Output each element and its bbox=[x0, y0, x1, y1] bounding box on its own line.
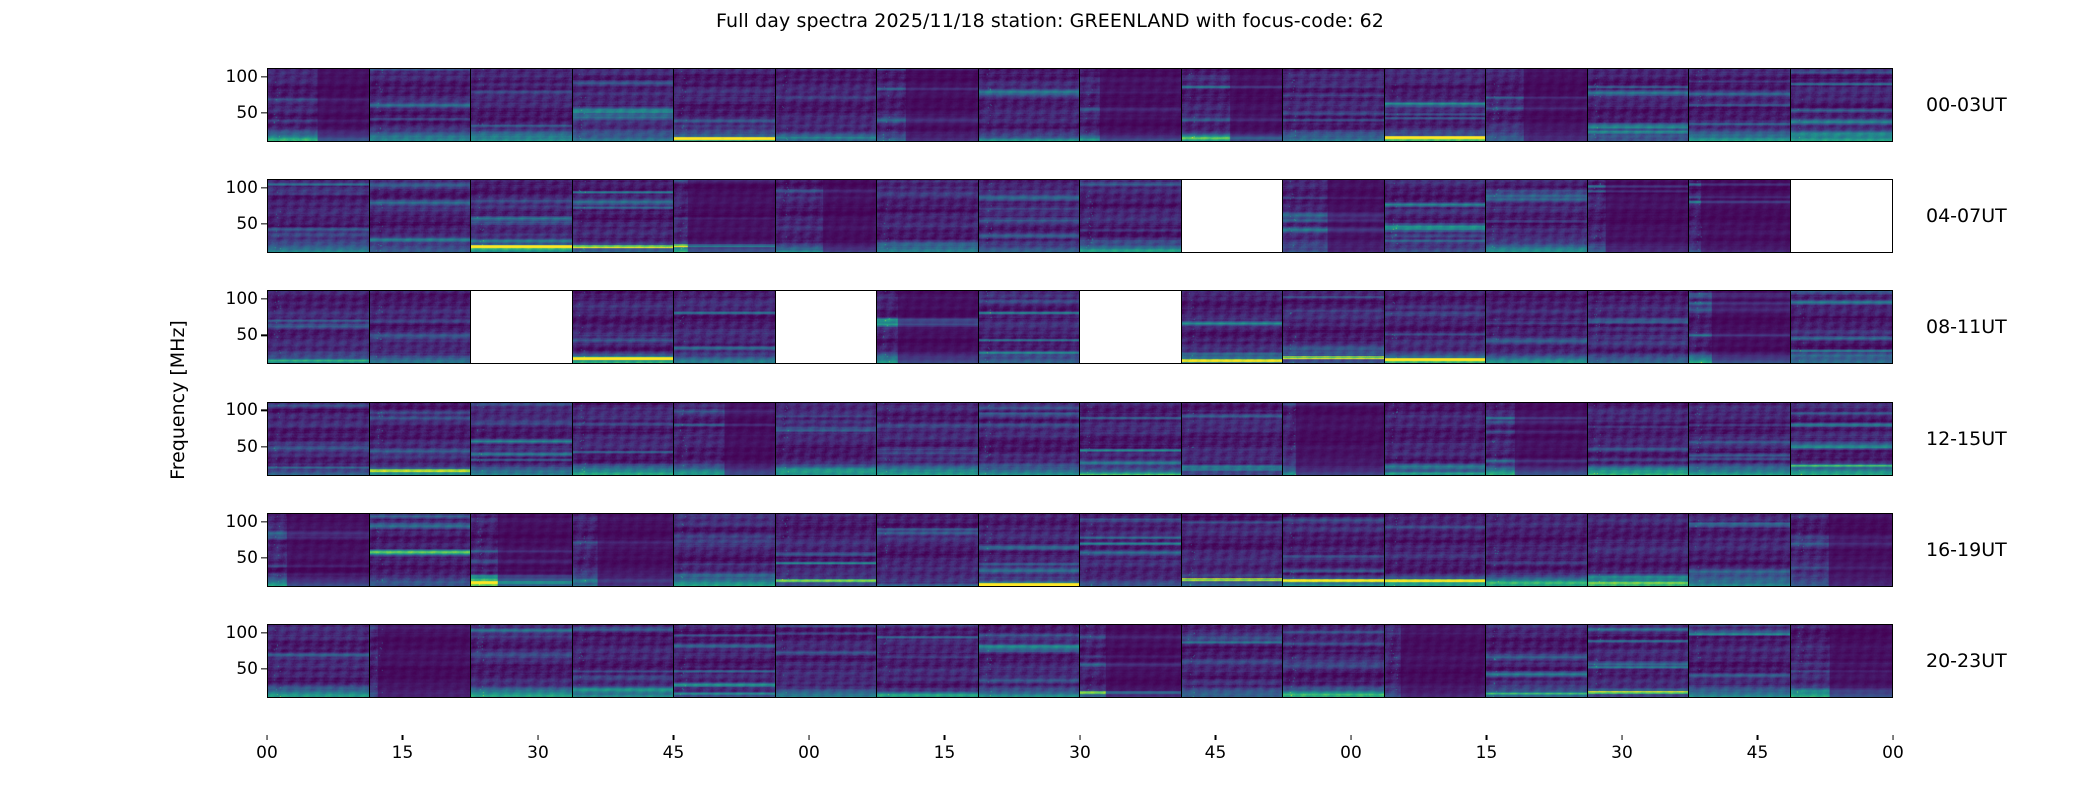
spectrogram-image bbox=[268, 69, 369, 141]
spectrogram-cell[interactable] bbox=[573, 514, 675, 586]
spectrogram-cell[interactable] bbox=[1588, 69, 1690, 141]
spectrogram-image bbox=[1283, 291, 1384, 363]
spectrogram-image bbox=[573, 403, 674, 475]
spectrogram-cell[interactable] bbox=[776, 625, 878, 697]
spectrogram-cell[interactable] bbox=[776, 69, 878, 141]
spectrogram-panel[interactable] bbox=[267, 513, 1893, 587]
spectrogram-cell[interactable] bbox=[1080, 514, 1182, 586]
spectrogram-image bbox=[471, 403, 572, 475]
spectrogram-cell[interactable] bbox=[1689, 69, 1791, 141]
spectrogram-panel[interactable] bbox=[267, 68, 1893, 142]
spectrogram-image bbox=[1588, 514, 1689, 586]
spectrogram-image bbox=[674, 403, 775, 475]
spectrogram-image bbox=[1385, 514, 1486, 586]
spectrogram-image bbox=[1283, 69, 1384, 141]
spectrogram-cell[interactable] bbox=[1080, 625, 1182, 697]
spectrogram-cell[interactable] bbox=[674, 403, 776, 475]
spectrogram-cell[interactable] bbox=[471, 403, 573, 475]
spectrogram-cell[interactable] bbox=[979, 514, 1081, 586]
spectrogram-cell[interactable] bbox=[979, 180, 1081, 252]
spectrogram-image bbox=[268, 180, 369, 252]
spectrogram-image bbox=[1385, 291, 1486, 363]
spectrogram-image bbox=[370, 180, 471, 252]
spectrogram-image bbox=[370, 403, 471, 475]
spectrogram-cell[interactable] bbox=[1486, 69, 1588, 141]
spectrogram-cell[interactable] bbox=[877, 180, 979, 252]
spectrogram-cell[interactable] bbox=[268, 514, 370, 586]
y-axis-tick: 50 bbox=[236, 437, 267, 457]
spectrogram-image bbox=[1486, 291, 1587, 363]
y-axis-tick: 50 bbox=[236, 214, 267, 234]
spectrogram-image bbox=[471, 69, 572, 141]
spectrogram-image bbox=[1182, 69, 1283, 141]
spectrogram-cell[interactable] bbox=[674, 625, 776, 697]
spectrogram-image bbox=[471, 180, 572, 252]
spectrogram-cell[interactable] bbox=[268, 625, 370, 697]
spectrogram-image bbox=[1283, 514, 1384, 586]
spectrogram-image bbox=[1689, 403, 1790, 475]
spectrogram-image bbox=[1385, 625, 1486, 697]
spectrogram-image bbox=[1182, 403, 1283, 475]
spectrogram-image bbox=[776, 180, 877, 252]
spectrogram-image bbox=[471, 625, 572, 697]
spectrogram-image bbox=[674, 69, 775, 141]
spectrogram-image bbox=[674, 514, 775, 586]
spectrogram-cell[interactable] bbox=[877, 625, 979, 697]
spectrogram-cell[interactable] bbox=[1689, 403, 1791, 475]
spectrogram-image bbox=[979, 180, 1080, 252]
spectrogram-cell[interactable] bbox=[1182, 514, 1284, 586]
spectrogram-row: 1005016-19UT bbox=[267, 513, 1893, 587]
spectrogram-image bbox=[776, 514, 877, 586]
spectrogram-cell[interactable] bbox=[979, 403, 1081, 475]
spectrogram-image bbox=[370, 514, 471, 586]
spectrogram-image bbox=[1791, 625, 1893, 697]
spectrogram-cell[interactable] bbox=[1689, 180, 1791, 252]
spectrogram-image bbox=[1080, 180, 1181, 252]
spectrogram-image bbox=[776, 403, 877, 475]
spectrogram-image bbox=[573, 514, 674, 586]
x-axis-tick: 30 bbox=[1069, 735, 1091, 763]
spectrogram-image bbox=[1486, 625, 1587, 697]
spectrogram-image bbox=[1283, 625, 1384, 697]
page-title: Full day spectra 2025/11/18 station: GRE… bbox=[0, 10, 2100, 32]
spectrogram-image bbox=[1385, 180, 1486, 252]
y-axis-tick: 100 bbox=[226, 289, 267, 309]
spectrogram-image bbox=[268, 403, 369, 475]
spectrogram-cell-missing[interactable] bbox=[776, 291, 878, 363]
row-label-00-03ut: 00-03UT bbox=[1893, 94, 2007, 116]
spectrogram-cell[interactable] bbox=[877, 403, 979, 475]
spectrogram-cell[interactable] bbox=[1182, 69, 1284, 141]
spectrogram-cell[interactable] bbox=[1486, 625, 1588, 697]
spectrogram-cell-missing[interactable] bbox=[1080, 291, 1182, 363]
spectrogram-image bbox=[1182, 514, 1283, 586]
x-axis-tick: 00 bbox=[1340, 735, 1362, 763]
spectrogram-panel[interactable] bbox=[267, 624, 1893, 698]
spectrogram-image bbox=[1689, 625, 1790, 697]
spectrogram-image bbox=[1486, 403, 1587, 475]
x-axis-tick: 15 bbox=[392, 735, 414, 763]
spectrogram-cell[interactable] bbox=[1385, 625, 1487, 697]
spectrogram-image bbox=[979, 403, 1080, 475]
spectrogram-image bbox=[1080, 69, 1181, 141]
spectrogram-image bbox=[573, 291, 674, 363]
spectrogram-image bbox=[268, 291, 369, 363]
spectrogram-image bbox=[1385, 69, 1486, 141]
spectrogram-image bbox=[979, 514, 1080, 586]
x-axis-tick: 45 bbox=[1747, 735, 1769, 763]
spectrogram-cell[interactable] bbox=[1283, 514, 1385, 586]
spectrogram-cell[interactable] bbox=[776, 180, 878, 252]
spectrogram-image bbox=[1689, 291, 1790, 363]
y-axis-tick: 50 bbox=[236, 325, 267, 345]
y-axis-tick: 50 bbox=[236, 659, 267, 679]
spectrogram-image bbox=[573, 625, 674, 697]
spectrogram-cell[interactable] bbox=[370, 514, 472, 586]
y-axis-tick: 100 bbox=[226, 178, 267, 198]
spectrogram-cell[interactable] bbox=[1385, 291, 1487, 363]
spectrogram-row: 1005000-03UT bbox=[267, 68, 1893, 142]
spectrogram-image bbox=[1791, 69, 1893, 141]
spectrogram-image bbox=[573, 69, 674, 141]
spectrogram-cell[interactable] bbox=[1080, 180, 1182, 252]
spectrogram-cell-missing[interactable] bbox=[471, 291, 573, 363]
spectrogram-cell[interactable] bbox=[1385, 69, 1487, 141]
x-axis-tick: 45 bbox=[1205, 735, 1227, 763]
spectrogram-image bbox=[1588, 403, 1689, 475]
spectrogram-cell[interactable] bbox=[1283, 625, 1385, 697]
spectrogram-image bbox=[1791, 291, 1893, 363]
spectrogram-row: 1005020-23UT bbox=[267, 624, 1893, 698]
x-axis-tick: 45 bbox=[663, 735, 685, 763]
spectrogram-cell[interactable] bbox=[1486, 514, 1588, 586]
spectrogram-cell[interactable] bbox=[573, 69, 675, 141]
spectrogram-cell[interactable] bbox=[573, 403, 675, 475]
spectrogram-image bbox=[776, 69, 877, 141]
spectrogram-cell[interactable] bbox=[1588, 180, 1690, 252]
spectrogram-image bbox=[776, 625, 877, 697]
spectrogram-image bbox=[674, 291, 775, 363]
spectrogram-cell[interactable] bbox=[471, 514, 573, 586]
spectrogram-cell[interactable] bbox=[877, 514, 979, 586]
spectrogram-image bbox=[1588, 291, 1689, 363]
spectrogram-image bbox=[877, 291, 978, 363]
spectrogram-cell[interactable] bbox=[776, 403, 878, 475]
spectrogram-image bbox=[1588, 625, 1689, 697]
spectrogram-image bbox=[1486, 69, 1587, 141]
y-axis-tick: 100 bbox=[226, 623, 267, 643]
spectrogram-image bbox=[1588, 69, 1689, 141]
spectrogram-cell[interactable] bbox=[674, 69, 776, 141]
spectrogram-cell[interactable] bbox=[877, 291, 979, 363]
spectrogram-image bbox=[370, 625, 471, 697]
row-label-12-15ut: 12-15UT bbox=[1893, 428, 2007, 450]
spectrogram-cell[interactable] bbox=[268, 69, 370, 141]
spectrogram-cell[interactable] bbox=[979, 625, 1081, 697]
spectrogram-image bbox=[1385, 403, 1486, 475]
spectrogram-cell[interactable] bbox=[979, 69, 1081, 141]
spectrogram-cell[interactable] bbox=[1588, 403, 1690, 475]
spectrogram-image bbox=[268, 514, 369, 586]
spectrogram-cell[interactable] bbox=[370, 69, 472, 141]
spectrogram-image bbox=[1283, 403, 1384, 475]
spectrogram-cell[interactable] bbox=[370, 180, 472, 252]
spectrogram-image bbox=[877, 514, 978, 586]
spectrogram-image bbox=[268, 625, 369, 697]
spectrogram-cell[interactable] bbox=[268, 403, 370, 475]
spectrogram-cell[interactable] bbox=[1791, 69, 1893, 141]
spectrogram-image bbox=[877, 180, 978, 252]
spectrogram-image bbox=[1182, 291, 1283, 363]
x-axis-tick: 15 bbox=[934, 735, 956, 763]
spectrogram-image bbox=[1791, 514, 1893, 586]
spectrogram-cell[interactable] bbox=[1791, 514, 1893, 586]
row-label-20-23ut: 20-23UT bbox=[1893, 650, 2007, 672]
spectrogram-cell[interactable] bbox=[674, 291, 776, 363]
spectrogram-cell[interactable] bbox=[1486, 180, 1588, 252]
x-axis-tick: 30 bbox=[527, 735, 549, 763]
spectrogram-cell[interactable] bbox=[674, 180, 776, 252]
spectrogram-cell[interactable] bbox=[1689, 514, 1791, 586]
spectrogram-image bbox=[1182, 625, 1283, 697]
spectrogram-image bbox=[573, 180, 674, 252]
spectrogram-image bbox=[370, 291, 471, 363]
spectrogram-cell[interactable] bbox=[1283, 180, 1385, 252]
spectrogram-image bbox=[674, 625, 775, 697]
spectrogram-cell[interactable] bbox=[268, 291, 370, 363]
spectrogram-image bbox=[1689, 180, 1790, 252]
x-axis: 00153045001530450015304500 bbox=[267, 735, 1893, 775]
spectrogram-cell[interactable] bbox=[573, 180, 675, 252]
spectrogram-image bbox=[877, 69, 978, 141]
spectrogram-image bbox=[674, 180, 775, 252]
spectrogram-cell[interactable] bbox=[979, 291, 1081, 363]
y-axis-label: Frequency [MHz] bbox=[167, 320, 189, 480]
spectrogram-image bbox=[877, 403, 978, 475]
x-axis-tick: 30 bbox=[1611, 735, 1633, 763]
y-axis-tick: 100 bbox=[226, 512, 267, 532]
x-axis-tick: 15 bbox=[1476, 735, 1498, 763]
spectrogram-image bbox=[1080, 625, 1181, 697]
row-label-04-07ut: 04-07UT bbox=[1893, 205, 2007, 227]
spectrogram-cell[interactable] bbox=[1486, 403, 1588, 475]
spectrogram-image bbox=[1080, 403, 1181, 475]
spectrogram-cell[interactable] bbox=[1588, 514, 1690, 586]
spectrogram-image bbox=[370, 69, 471, 141]
row-label-08-11ut: 08-11UT bbox=[1893, 316, 2007, 338]
spectrogram-figure: Full day spectra 2025/11/18 station: GRE… bbox=[0, 0, 2100, 800]
spectrogram-cell[interactable] bbox=[1080, 69, 1182, 141]
spectrogram-cell[interactable] bbox=[1283, 291, 1385, 363]
spectrogram-cell[interactable] bbox=[370, 291, 472, 363]
spectrogram-cell[interactable] bbox=[1182, 625, 1284, 697]
spectrogram-image bbox=[471, 514, 572, 586]
spectrogram-cell[interactable] bbox=[471, 625, 573, 697]
spectrogram-cell[interactable] bbox=[1588, 625, 1690, 697]
spectrogram-image bbox=[1689, 69, 1790, 141]
spectrogram-cell[interactable] bbox=[1080, 403, 1182, 475]
spectrogram-image bbox=[1588, 180, 1689, 252]
y-axis-tick: 50 bbox=[236, 548, 267, 568]
spectrogram-cell[interactable] bbox=[674, 514, 776, 586]
spectrogram-row: 1005008-11UT bbox=[267, 290, 1893, 364]
spectrogram-cell[interactable] bbox=[1588, 291, 1690, 363]
spectrogram-cell-missing[interactable] bbox=[1182, 180, 1284, 252]
spectrogram-cell[interactable] bbox=[1283, 403, 1385, 475]
spectrogram-cell[interactable] bbox=[573, 625, 675, 697]
spectrogram-image bbox=[979, 69, 1080, 141]
y-axis-tick: 100 bbox=[226, 67, 267, 87]
spectrogram-cell[interactable] bbox=[1385, 514, 1487, 586]
spectrogram-cell[interactable] bbox=[370, 403, 472, 475]
spectrogram-image bbox=[1283, 180, 1384, 252]
spectrogram-cell-missing[interactable] bbox=[1791, 180, 1893, 252]
x-axis-tick: 00 bbox=[1882, 735, 1904, 763]
spectrogram-image bbox=[877, 625, 978, 697]
spectrogram-image bbox=[979, 291, 1080, 363]
spectrogram-image bbox=[979, 625, 1080, 697]
spectrogram-image bbox=[1080, 514, 1181, 586]
spectrogram-panel[interactable] bbox=[267, 290, 1893, 364]
spectrogram-cell[interactable] bbox=[776, 514, 878, 586]
spectrogram-cell[interactable] bbox=[370, 625, 472, 697]
spectrogram-cell[interactable] bbox=[471, 69, 573, 141]
spectrogram-image bbox=[1689, 514, 1790, 586]
x-axis-tick: 00 bbox=[256, 735, 278, 763]
spectrogram-row: 1005012-15UT bbox=[267, 402, 1893, 476]
spectrogram-cell[interactable] bbox=[1689, 291, 1791, 363]
spectrogram-cell[interactable] bbox=[1689, 625, 1791, 697]
spectrogram-cell[interactable] bbox=[268, 180, 370, 252]
spectrogram-cell[interactable] bbox=[1283, 69, 1385, 141]
spectrogram-cell[interactable] bbox=[1791, 403, 1893, 475]
y-axis-tick: 50 bbox=[236, 103, 267, 123]
spectrogram-cell[interactable] bbox=[1385, 180, 1487, 252]
spectrogram-image bbox=[1486, 180, 1587, 252]
spectrogram-cell[interactable] bbox=[877, 69, 979, 141]
spectrogram-image bbox=[1791, 403, 1893, 475]
spectrogram-row: 1005004-07UT bbox=[267, 179, 1893, 253]
y-axis-tick: 100 bbox=[226, 400, 267, 420]
row-label-16-19ut: 16-19UT bbox=[1893, 539, 2007, 561]
spectrogram-cell[interactable] bbox=[471, 180, 573, 252]
x-axis-tick: 00 bbox=[798, 735, 820, 763]
spectrogram-panel[interactable] bbox=[267, 402, 1893, 476]
spectrogram-panel[interactable] bbox=[267, 179, 1893, 253]
spectrogram-cell[interactable] bbox=[1791, 625, 1893, 697]
spectrogram-cell[interactable] bbox=[573, 291, 675, 363]
spectrogram-cell[interactable] bbox=[1486, 291, 1588, 363]
spectrogram-cell[interactable] bbox=[1791, 291, 1893, 363]
spectrogram-cell[interactable] bbox=[1385, 403, 1487, 475]
spectrogram-cell[interactable] bbox=[1182, 291, 1284, 363]
spectrogram-image bbox=[1486, 514, 1587, 586]
spectrogram-cell[interactable] bbox=[1182, 403, 1284, 475]
